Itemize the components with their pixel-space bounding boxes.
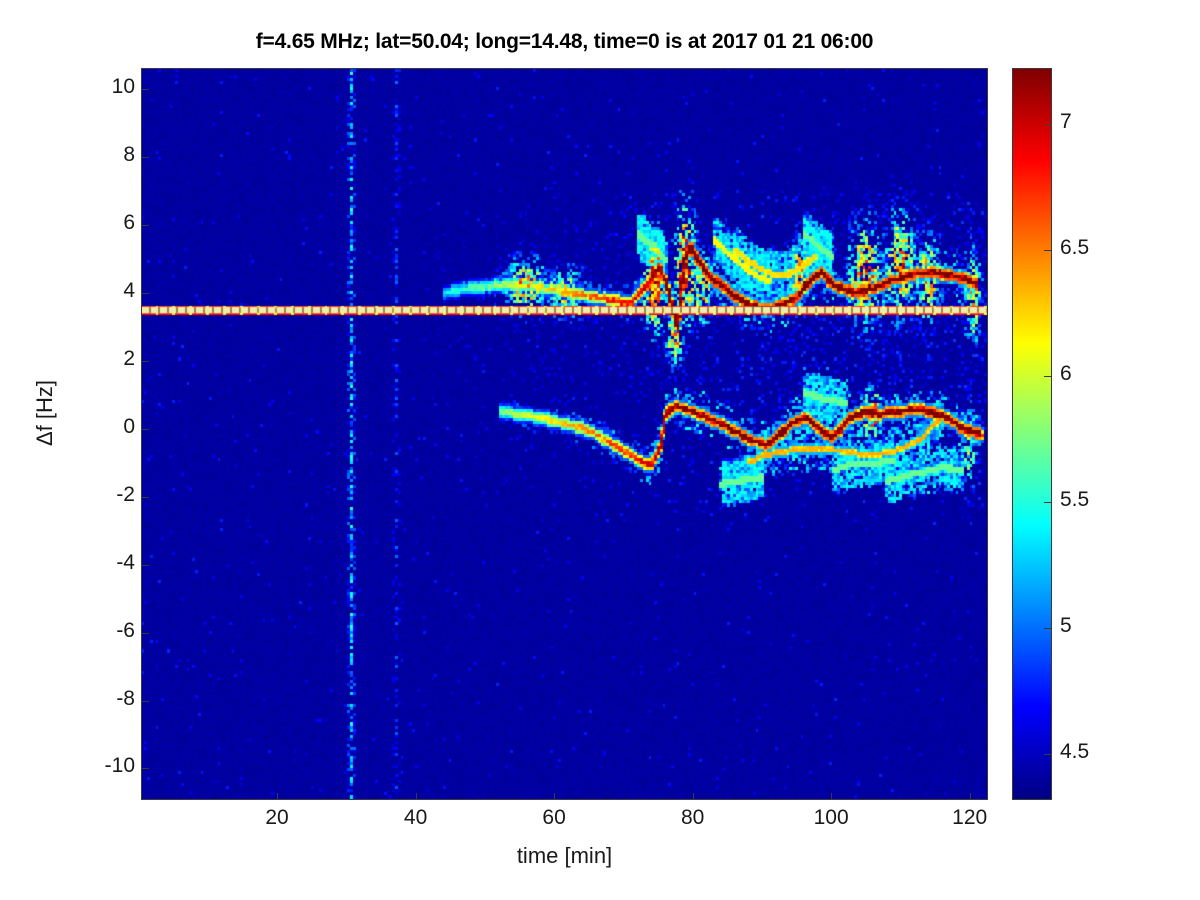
colorbar-tick-mark	[1044, 628, 1051, 629]
colorbar-tick-label: 4.5	[1060, 740, 1089, 764]
x-tick-label: 60	[542, 806, 565, 830]
axes-frame	[141, 68, 988, 800]
colorbar-tick-label: 5.5	[1060, 488, 1089, 512]
y-tick-mark	[142, 361, 149, 362]
colorbar-tick-label: 7	[1060, 110, 1072, 134]
y-axis-label: Δf [Hz]	[32, 313, 58, 513]
x-tick-label: 20	[265, 806, 288, 830]
y-tick-mark	[142, 225, 149, 226]
x-tick-mark	[554, 793, 555, 800]
y-tick-label: -10	[105, 754, 135, 778]
colorbar-tick-label: 6	[1060, 362, 1072, 386]
y-tick-mark	[142, 565, 149, 566]
y-tick-label: 8	[123, 143, 135, 167]
y-tick-label: -2	[116, 483, 135, 507]
y-tick-label: 2	[123, 347, 135, 371]
y-tick-mark	[142, 157, 149, 158]
colorbar-tick-mark	[1044, 124, 1051, 125]
y-tick-mark	[142, 429, 149, 430]
y-tick-label: -4	[116, 551, 135, 575]
colorbar-tick-label: 6.5	[1060, 236, 1089, 260]
y-tick-label: -8	[116, 687, 135, 711]
y-tick-label: 6	[123, 211, 135, 235]
x-tick-label: 40	[404, 806, 427, 830]
x-tick-label: 80	[681, 806, 704, 830]
y-tick-mark	[142, 701, 149, 702]
x-tick-mark	[970, 793, 971, 800]
y-tick-mark	[142, 293, 149, 294]
y-tick-mark	[142, 89, 149, 90]
colorbar-tick-label: 5	[1060, 614, 1072, 638]
y-tick-label: 4	[123, 279, 135, 303]
page-title: f=4.65 MHz; lat=50.04; long=14.48, time=…	[141, 30, 988, 54]
x-axis-label: time [min]	[141, 843, 988, 869]
y-tick-mark	[142, 497, 149, 498]
y-tick-mark	[142, 768, 149, 769]
figure-canvas: f=4.65 MHz; lat=50.04; long=14.48, time=…	[0, 0, 1200, 900]
y-tick-label: 0	[123, 415, 135, 439]
colorbar-tick-mark	[1044, 502, 1051, 503]
x-tick-mark	[831, 793, 832, 800]
x-tick-mark	[693, 793, 694, 800]
colorbar-tick-mark	[1044, 250, 1051, 251]
x-tick-mark	[416, 793, 417, 800]
y-tick-mark	[142, 633, 149, 634]
x-tick-label: 100	[814, 806, 849, 830]
colorbar-tick-mark	[1044, 754, 1051, 755]
x-tick-label: 120	[952, 806, 987, 830]
y-tick-label: -6	[116, 619, 135, 643]
x-tick-mark	[277, 793, 278, 800]
y-tick-label: 10	[112, 75, 135, 99]
colorbar-tick-mark	[1044, 376, 1051, 377]
colorbar-frame	[1012, 68, 1052, 800]
